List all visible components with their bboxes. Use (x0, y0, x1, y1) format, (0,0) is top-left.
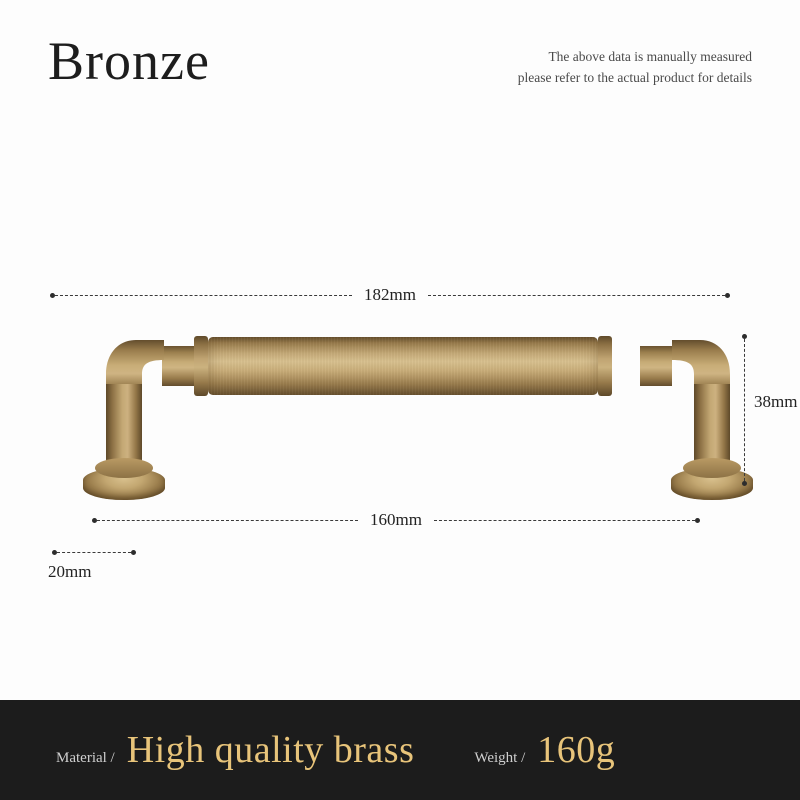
dimension-base-width: 20mm (52, 550, 136, 555)
dimension-endpoint-dot (725, 293, 730, 298)
weight-value: 160g (537, 728, 615, 772)
dimension-label-38: 38mm (754, 392, 797, 412)
dimension-label-20: 20mm (48, 562, 91, 582)
product-spec-page: Bronze The above data is manually measur… (0, 0, 800, 800)
page-title: Bronze (48, 30, 210, 92)
dimension-overall-length: 182mm (50, 285, 730, 305)
handle-collar-left (194, 336, 208, 396)
handle-grip-texture (208, 337, 598, 395)
handle-collar-right (598, 336, 612, 396)
handle-neck-left (162, 346, 194, 386)
dimension-label-182: 182mm (352, 285, 428, 305)
dimension-dash-line (97, 520, 358, 521)
dimension-dash-line (57, 552, 131, 553)
dimension-dash-line (434, 520, 695, 521)
dimension-dash-line (428, 295, 725, 296)
spec-footer-bar: Material / High quality brass Weight / 1… (0, 700, 800, 800)
handle-grip-bar (208, 337, 598, 395)
handle-base-lip-right (683, 458, 741, 478)
handle-base-right (671, 468, 753, 500)
dimension-endpoint-dot (742, 481, 747, 486)
weight-label: Weight / (474, 750, 525, 767)
handle-neck-right (640, 346, 672, 386)
handle-illustration (40, 310, 740, 510)
dimension-label-160: 160mm (358, 510, 434, 530)
dimension-endpoint-dot (695, 518, 700, 523)
measurement-note: The above data is manually measured plea… (518, 46, 752, 88)
handle-base-left (83, 468, 165, 500)
material-label: Material / (56, 750, 115, 767)
dimension-dash-line (744, 339, 745, 481)
material-spec: Material / High quality brass (56, 728, 414, 772)
material-value: High quality brass (127, 728, 415, 772)
product-diagram: 182mm (0, 250, 800, 670)
dimension-endpoint-dot (131, 550, 136, 555)
dimension-center-distance: 160mm (92, 510, 700, 530)
handle-base-lip-left (95, 458, 153, 478)
dimension-height: 38mm (744, 334, 745, 486)
measurement-note-line2: please refer to the actual product for d… (518, 67, 752, 88)
dimension-dash-line (55, 295, 352, 296)
weight-spec: Weight / 160g (474, 728, 615, 772)
measurement-note-line1: The above data is manually measured (518, 46, 752, 67)
